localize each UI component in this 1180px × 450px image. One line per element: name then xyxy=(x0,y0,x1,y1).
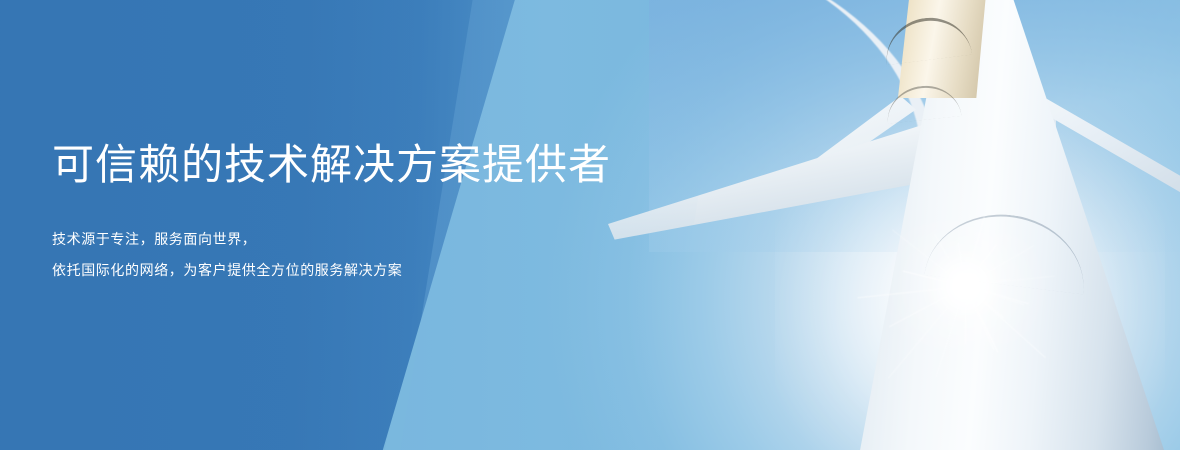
subtitle-line-2: 依托国际化的网络，为客户提供全方位的服务解决方案 xyxy=(52,255,672,287)
banner-subtitle: 技术源于专注，服务面向世界， 依托国际化的网络，为客户提供全方位的服务解决方案 xyxy=(52,224,672,288)
banner-copy: 可信赖的技术解决方案提供者 技术源于专注，服务面向世界， 依托国际化的网络，为客… xyxy=(52,140,672,287)
subtitle-line-1: 技术源于专注，服务面向世界， xyxy=(52,224,672,256)
hero-banner: 可信赖的技术解决方案提供者 技术源于专注，服务面向世界， 依托国际化的网络，为客… xyxy=(0,0,1180,450)
page-title: 可信赖的技术解决方案提供者 xyxy=(52,140,672,190)
sun-ray xyxy=(965,286,967,344)
